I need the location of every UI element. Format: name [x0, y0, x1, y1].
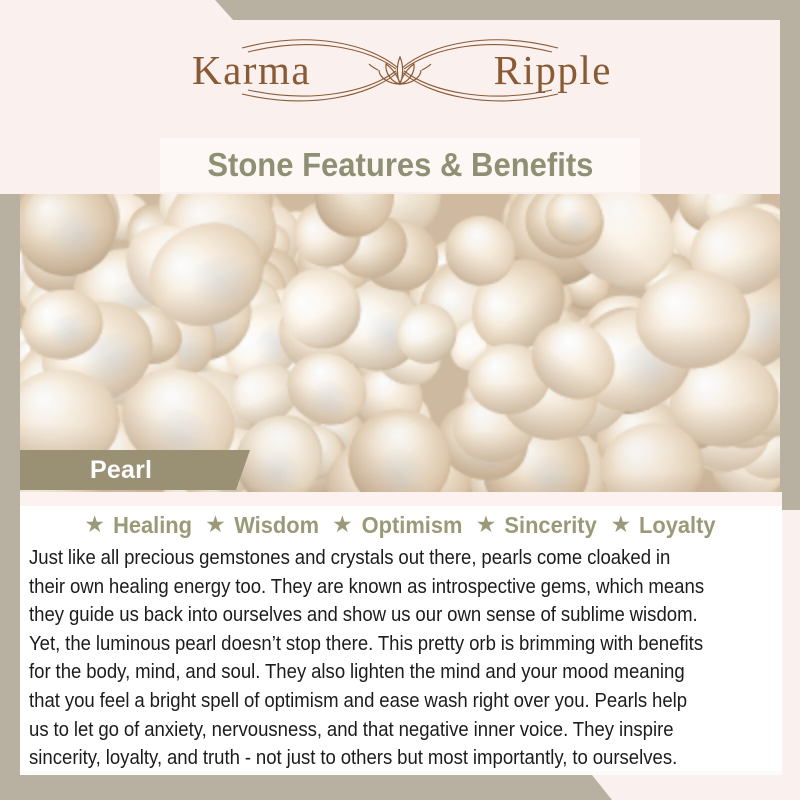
brand-logo[interactable]: Karma Ripple	[170, 34, 630, 106]
stone-name-label: Pearl	[90, 456, 152, 485]
benefit-item: ★Sincerity	[476, 512, 600, 539]
content-card: ★Healing★Wisdom★Optimism★Sincerity★Loyal…	[20, 492, 782, 775]
pearl-photo	[20, 194, 782, 492]
benefit-item: ★Loyalty	[610, 512, 717, 539]
benefits-list: ★Healing★Wisdom★Optimism★Sincerity★Loyal…	[20, 512, 782, 539]
benefit-item: ★Wisdom	[205, 512, 321, 539]
star-icon: ★	[84, 513, 105, 536]
stone-name-banner: Pearl	[20, 450, 250, 490]
benefit-label: Sincerity	[505, 512, 597, 539]
benefit-label: Loyalty	[639, 512, 716, 539]
title-banner: Stone Features & Benefits	[160, 138, 640, 192]
frame-right-accent	[780, 0, 800, 510]
frame-bottom-accent	[0, 775, 800, 800]
brand-wordmark: Karma Ripple	[170, 34, 630, 106]
hero-image	[20, 194, 782, 492]
brand-name-left: Karma	[192, 46, 311, 94]
star-icon: ★	[332, 513, 353, 536]
content-top-strip	[20, 492, 782, 506]
star-icon: ★	[610, 513, 631, 536]
benefit-label: Wisdom	[234, 512, 319, 539]
infographic-page: Karma Ripple Stone Features & Benefits P…	[0, 0, 800, 800]
content-bottom-strip	[20, 771, 782, 775]
brand-name-right: Ripple	[494, 46, 612, 94]
star-icon: ★	[476, 513, 497, 536]
star-icon: ★	[205, 513, 226, 536]
description-paragraph: Just like all precious gemstones and cry…	[29, 544, 710, 773]
page-title: Stone Features & Benefits	[207, 146, 593, 184]
benefit-item: ★Optimism	[332, 512, 465, 539]
benefit-label: Optimism	[361, 512, 462, 539]
benefit-label: Healing	[113, 512, 192, 539]
benefit-item: ★Healing	[84, 512, 194, 539]
frame-left-accent	[0, 194, 20, 777]
